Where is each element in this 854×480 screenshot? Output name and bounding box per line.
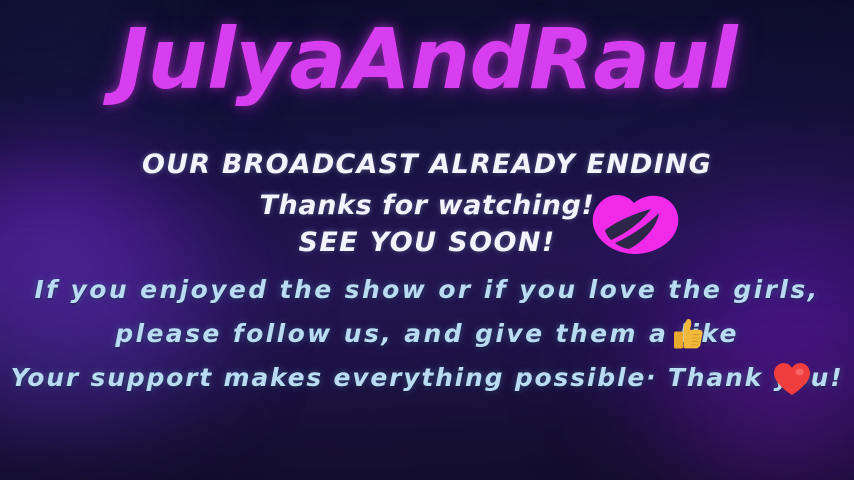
message-line-5: please follow us, and give them a like (0, 319, 854, 348)
message-line-3: SEE YOU SOON! (0, 227, 854, 258)
message-line-1: OUR BROADCAST ALREADY ENDING (0, 149, 854, 180)
overlay-content: JulyaAndRaul OUR BROADCAST ALREADY ENDIN… (0, 0, 854, 480)
message-line-4: If you enjoyed the show or if you love t… (0, 275, 854, 304)
red-heart-emoji (772, 361, 812, 397)
channel-title: JulyaAndRaul (0, 14, 854, 105)
message-line-6: Your support makes everything possible· … (0, 363, 854, 392)
broadcast-ending-overlay: JulyaAndRaul OUR BROADCAST ALREADY ENDIN… (0, 0, 854, 480)
message-line-2: Thanks for watching! (0, 190, 854, 221)
thumbs-up-emoji (669, 314, 709, 354)
kiss-mark-emoji (589, 194, 681, 256)
